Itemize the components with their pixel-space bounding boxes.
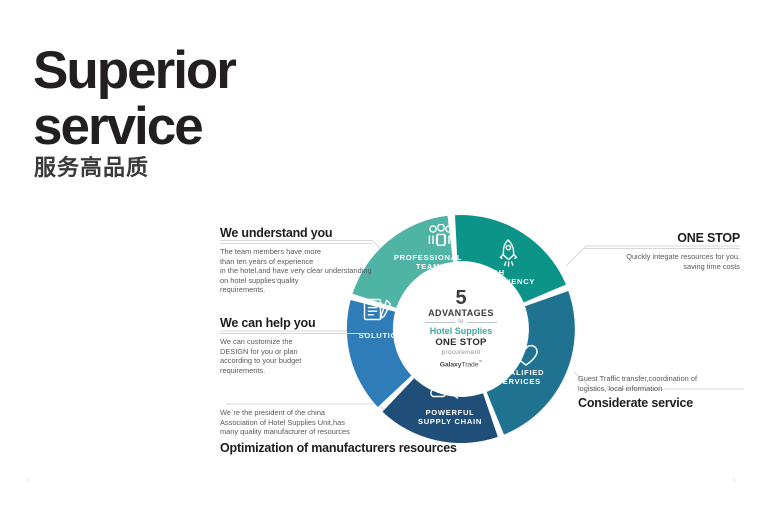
callout-considerate-service: Guest Traffic transfer,coordination of l… — [578, 374, 743, 410]
brand-light: Trade — [461, 362, 478, 369]
hub-number: 5 — [455, 289, 466, 308]
page-number-left: 5 — [27, 478, 30, 484]
callout-body-understand: The team members have more than ten year… — [220, 247, 372, 295]
callout-rule-help — [220, 333, 368, 334]
hub-rule-left — [425, 322, 455, 323]
callout-body-help: We can customize the DESIGN for you or p… — [220, 337, 368, 375]
callout-body-onestop: Quickly integate resources for you, savi… — [584, 252, 740, 271]
callout-title-onestop: ONE STOP — [584, 231, 740, 245]
brand-trademark: ™ — [478, 359, 482, 364]
callout-we-understand-you: We understand you The team members have … — [220, 226, 372, 295]
hub-to-divider: to — [425, 319, 497, 325]
brand-bold: Galaxy — [440, 362, 462, 369]
callout-body-considerate: Guest Traffic transfer,coordination of l… — [578, 374, 743, 393]
hub-advantages-label: ADVANTAGES — [428, 308, 494, 318]
hub-rule-right — [467, 322, 497, 323]
hub-hotel-supplies-label: Hotel Supplies — [430, 326, 493, 337]
brand-logo-galaxytrade: GalaxyTrade™ — [440, 359, 483, 368]
callout-title-help: We can help you — [220, 316, 368, 330]
callout-rule-understand — [220, 243, 372, 244]
callout-one-stop: ONE STOP Quickly integate resources for … — [584, 231, 740, 271]
callout-title-optimize: Optimization of manufacturers resources — [220, 441, 502, 455]
hub-one-stop-label: ONE STOP — [435, 337, 486, 348]
slide-root: Superior service 服务高品质 — [0, 0, 768, 507]
callout-optimization-of-manufacturers-resources: We`re the president of the china Associa… — [220, 408, 502, 455]
callout-rule-onestop — [584, 248, 740, 249]
callout-title-considerate: Considerate service — [578, 396, 743, 410]
hub-to-label: to — [458, 319, 464, 325]
callout-body-optimize: We`re the president of the china Associa… — [220, 408, 502, 437]
callout-title-understand: We understand you — [220, 226, 372, 240]
donut-center-hub: 5 ADVANTAGES to Hotel Supplies ONE STOP … — [415, 283, 507, 375]
page-number-right: 6 — [733, 478, 736, 484]
callout-we-can-help-you: We can help you We can customize the DES… — [220, 316, 368, 375]
hub-procurement-label: procurement — [442, 348, 481, 357]
